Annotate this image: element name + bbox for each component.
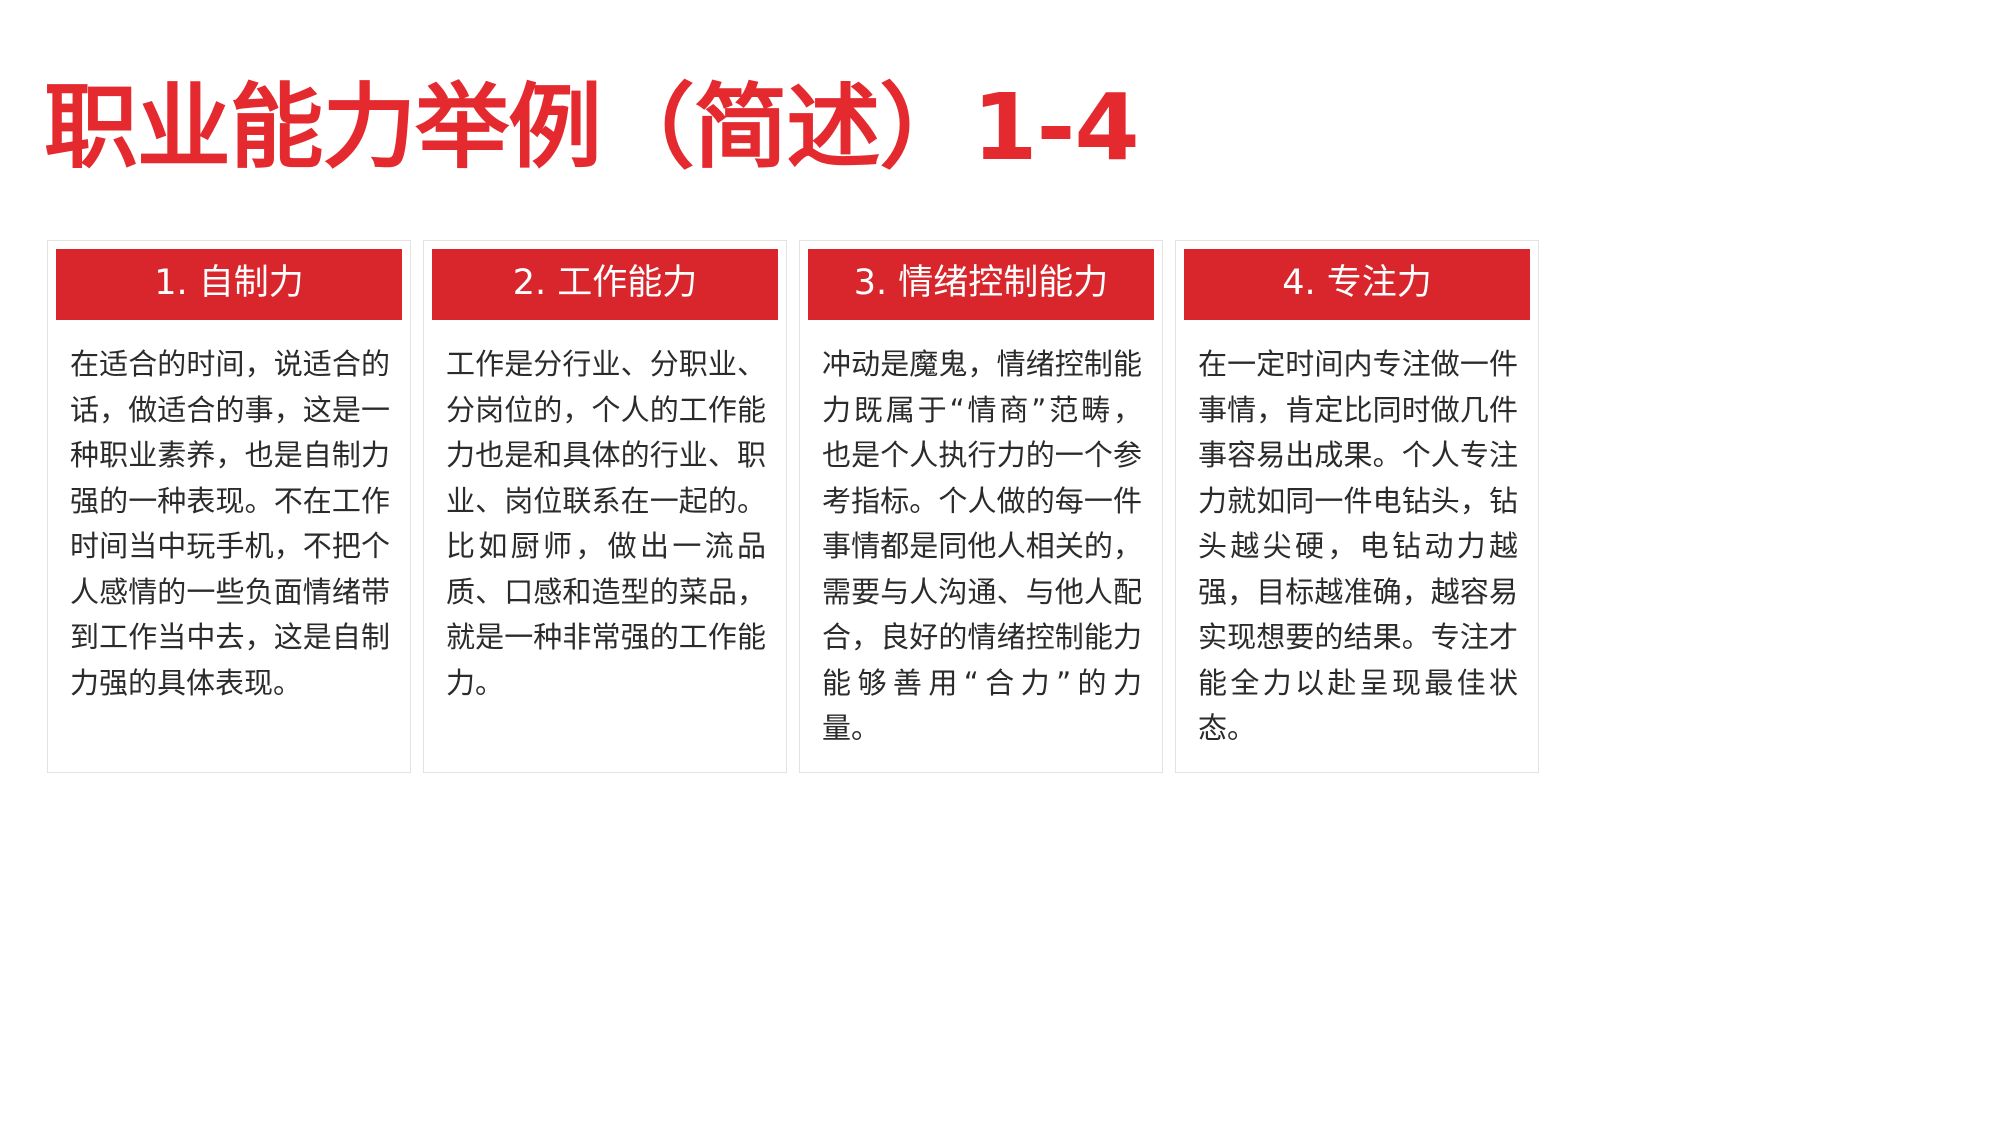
- card-3[interactable]: 3. 情绪控制能力 冲动是魔鬼，情绪控制能力既属于“情商”范畴，也是个人执行力的…: [799, 240, 1163, 773]
- slide-canvas: 职业能力举例（简述）1-4 1. 自制力 在适合的时间，说适合的话，做适合的事，…: [0, 0, 1568, 865]
- card-2[interactable]: 2. 工作能力 工作是分行业、分职业、分岗位的，个人的工作能力也是和具体的行业、…: [423, 240, 787, 773]
- card-2-header: 2. 工作能力: [432, 249, 778, 320]
- card-2-body: 工作是分行业、分职业、分岗位的，个人的工作能力也是和具体的行业、职业、岗位联系在…: [432, 320, 778, 706]
- card-1-body: 在适合的时间，说适合的话，做适合的事，这是一种职业素养，也是自制力强的一种表现。…: [56, 320, 402, 706]
- card-3-body: 冲动是魔鬼，情绪控制能力既属于“情商”范畴，也是个人执行力的一个参考指标。个人做…: [808, 320, 1154, 752]
- cards-row: 1. 自制力 在适合的时间，说适合的话，做适合的事，这是一种职业素养，也是自制力…: [47, 240, 1539, 773]
- card-1-header: 1. 自制力: [56, 249, 402, 320]
- card-4[interactable]: 4. 专注力 在一定时间内专注做一件事情，肯定比同时做几件事容易出成果。个人专注…: [1175, 240, 1539, 773]
- page-title: 职业能力举例（简述）1-4: [44, 82, 1139, 174]
- card-4-header: 4. 专注力: [1184, 249, 1530, 320]
- card-1[interactable]: 1. 自制力 在适合的时间，说适合的话，做适合的事，这是一种职业素养，也是自制力…: [47, 240, 411, 773]
- card-3-header: 3. 情绪控制能力: [808, 249, 1154, 320]
- card-4-body: 在一定时间内专注做一件事情，肯定比同时做几件事容易出成果。个人专注力就如同一件电…: [1184, 320, 1530, 752]
